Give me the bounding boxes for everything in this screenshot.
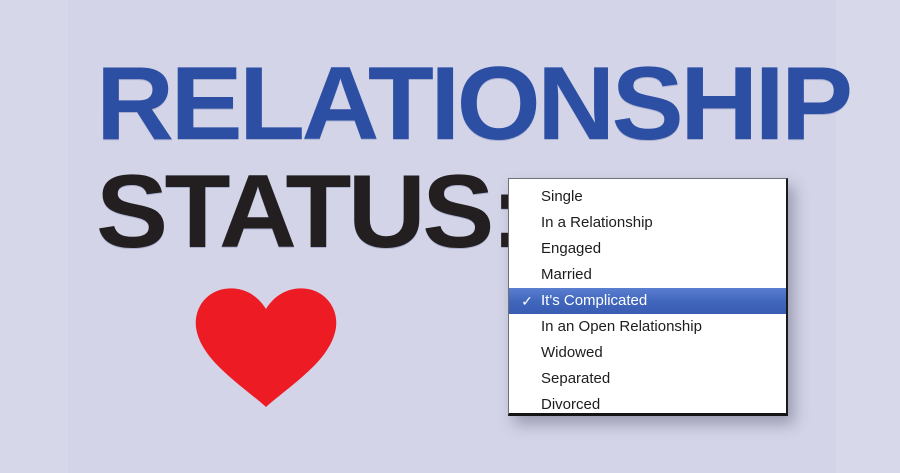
dropdown-option-its-complicated[interactable]: ✓ It's Complicated	[509, 288, 786, 314]
dropdown-option-in-an-open-relationship[interactable]: In an Open Relationship	[509, 314, 786, 340]
dropdown-option-in-a-relationship[interactable]: In a Relationship	[509, 210, 786, 236]
dropdown-option-label: Divorced	[541, 396, 600, 413]
relationship-status-dropdown[interactable]: Single In a Relationship Engaged Married…	[508, 178, 788, 416]
scan-band-left	[0, 0, 68, 473]
headline-line-status: STATUS:	[96, 160, 523, 264]
dropdown-option-married[interactable]: Married	[509, 262, 786, 288]
dropdown-option-label: Married	[541, 266, 592, 283]
dropdown-option-label: Single	[541, 188, 583, 205]
dropdown-option-list: Single In a Relationship Engaged Married…	[509, 179, 786, 416]
heart-icon	[193, 283, 339, 407]
dropdown-option-label: Separated	[541, 370, 610, 387]
dropdown-option-label: Engaged	[541, 240, 601, 257]
check-icon: ✓	[520, 288, 534, 314]
dropdown-option-engaged[interactable]: Engaged	[509, 236, 786, 262]
dropdown-option-divorced[interactable]: Divorced	[509, 392, 786, 416]
dropdown-option-label: It's Complicated	[541, 292, 647, 309]
dropdown-option-label: In a Relationship	[541, 214, 653, 231]
headline-line-relationship: RELATIONSHIP	[96, 52, 850, 156]
dropdown-option-widowed[interactable]: Widowed	[509, 340, 786, 366]
dropdown-option-label: Widowed	[541, 344, 603, 361]
dropdown-option-separated[interactable]: Separated	[509, 366, 786, 392]
dropdown-option-single[interactable]: Single	[509, 184, 786, 210]
poster-canvas: RELATIONSHIP STATUS: Single In a Relatio…	[0, 0, 900, 473]
dropdown-option-label: In an Open Relationship	[541, 318, 702, 335]
